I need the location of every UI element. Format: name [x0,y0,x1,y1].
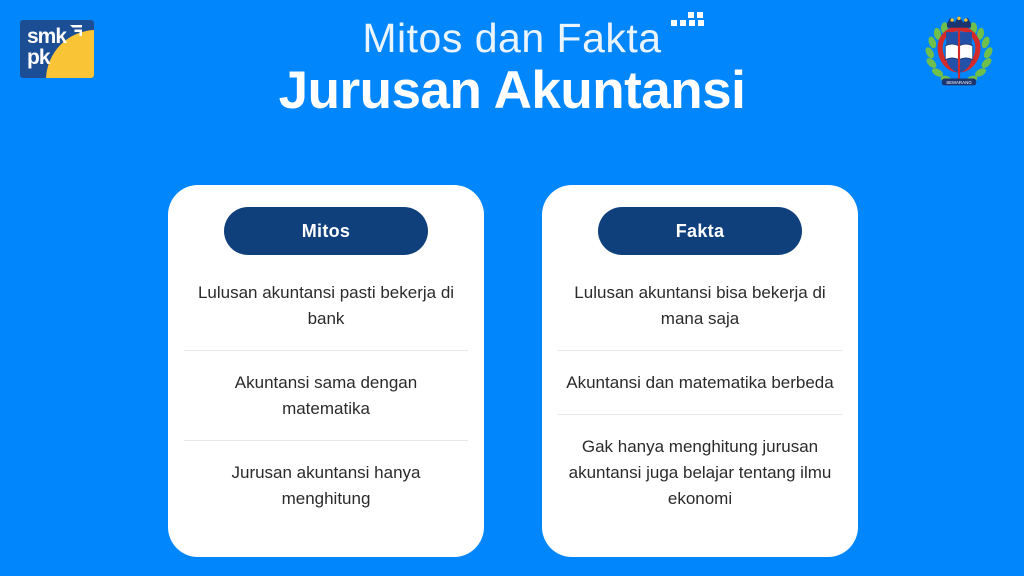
logo-wordmark: smk pk [27,26,66,68]
list-item: Akuntansi dan matematika berbeda [558,351,842,415]
page-title: Jurusan Akuntansi [0,60,1024,122]
card-heading-mitos: Mitos [224,207,428,255]
slide-canvas: smk pk [0,0,1024,576]
list-item: Jurusan akuntansi hanya menghitung [184,441,468,530]
logo-arrow-icon [68,25,84,39]
page-subtitle-text: Mitos dan Fakta [362,15,661,61]
page-subtitle: Mitos dan Fakta [362,14,661,62]
list-item: Gak hanya menghitung jurusan akuntansi j… [558,415,842,530]
card-mitos: Mitos Lulusan akuntansi pasti bekerja di… [168,185,484,557]
card-rows-mitos: Lulusan akuntansi pasti bekerja di bank … [184,261,468,530]
list-item: Lulusan akuntansi pasti bekerja di bank [184,261,468,351]
card-heading-fakta: Fakta [598,207,802,255]
comparison-cards: Mitos Lulusan akuntansi pasti bekerja di… [168,185,858,557]
card-rows-fakta: Lulusan akuntansi bisa bekerja di mana s… [558,261,842,530]
logo-wordmark-line1: smk [27,26,66,47]
dot-pattern-icon [666,12,706,32]
header: Mitos dan Fakta Jurusan Akuntansi [0,14,1024,122]
list-item: Akuntansi sama dengan matematika [184,351,468,441]
card-fakta: Fakta Lulusan akuntansi bisa bekerja di … [542,185,858,557]
list-item: Lulusan akuntansi bisa bekerja di mana s… [558,261,842,351]
logo-wordmark-line2: pk [27,47,66,68]
